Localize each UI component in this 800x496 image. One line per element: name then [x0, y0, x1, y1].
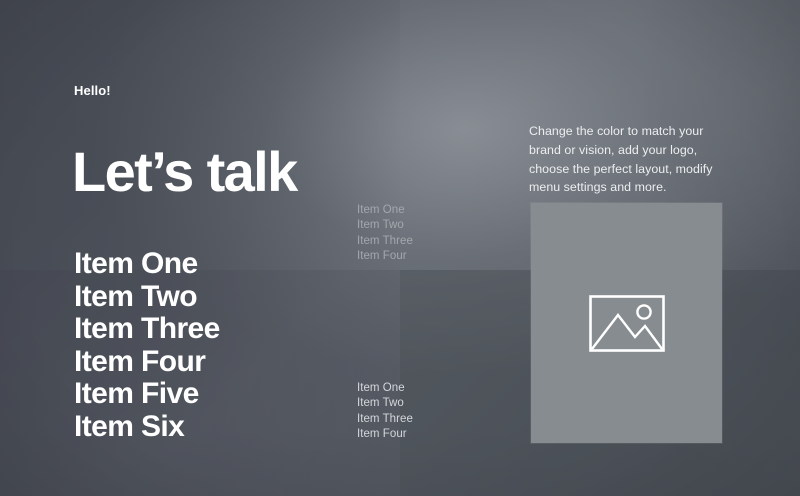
mini-menu-bottom-item-4[interactable]: Item Four [357, 427, 413, 442]
style-preview-canvas: Hello! Let’s talk Item One Item Two Item… [0, 0, 800, 496]
mini-menu-bottom: Item One Item Two Item Three Item Four [357, 381, 413, 443]
mini-menu-top-item-4[interactable]: Item Four [357, 249, 413, 264]
description-text: Change the color to match your brand or … [529, 122, 721, 196]
main-menu-item-3[interactable]: Item Three [74, 313, 220, 346]
mini-menu-top-item-3[interactable]: Item Three [357, 234, 413, 249]
image-placeholder-icon [589, 295, 665, 352]
mini-menu-bottom-item-1[interactable]: Item One [357, 381, 413, 396]
main-menu-item-5[interactable]: Item Five [74, 378, 220, 411]
page-title: Let’s talk [72, 142, 297, 202]
mini-menu-top-item-2[interactable]: Item Two [357, 218, 413, 233]
image-placeholder-card[interactable] [531, 203, 722, 443]
main-menu-item-4[interactable]: Item Four [74, 346, 220, 379]
main-menu: Item One Item Two Item Three Item Four I… [74, 248, 220, 444]
mini-menu-top-item-1[interactable]: Item One [357, 203, 413, 218]
mini-menu-top: Item One Item Two Item Three Item Four [357, 203, 413, 265]
main-menu-item-1[interactable]: Item One [74, 248, 220, 281]
main-menu-item-2[interactable]: Item Two [74, 281, 220, 314]
mini-menu-bottom-item-3[interactable]: Item Three [357, 412, 413, 427]
main-menu-item-6[interactable]: Item Six [74, 411, 220, 444]
hero-eyebrow: Hello! [74, 83, 111, 98]
mini-menu-bottom-item-2[interactable]: Item Two [357, 396, 413, 411]
